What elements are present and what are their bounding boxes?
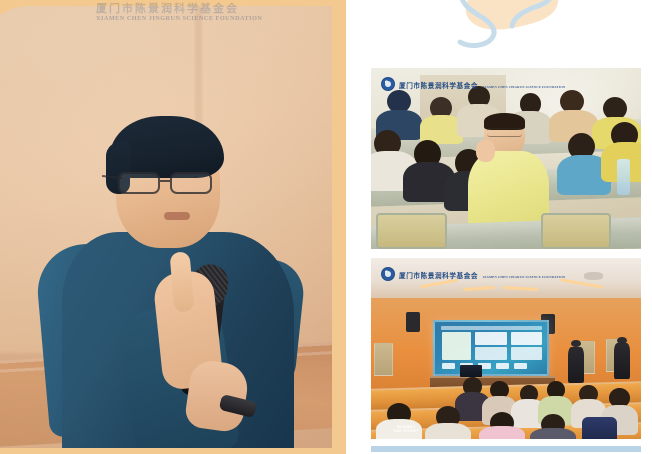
organic-blob-decoration	[440, 0, 590, 52]
seat-back	[541, 213, 611, 249]
hall-assistant-person	[614, 343, 630, 379]
photo-watermark: 厦门市陈景润科学基金会 XIAMEN CHEN JINGRUN SCIENCE …	[381, 76, 565, 92]
photo-lecture-hall[interactable]: PAJAMAS OUR STREET 厦门市陈景润科学基金会 XIAMEN CH…	[371, 258, 641, 439]
backpack-icon	[582, 417, 617, 439]
slide-block	[496, 363, 509, 369]
slide-block	[475, 332, 506, 345]
hero-photo-image	[0, 6, 332, 448]
slide-block	[442, 332, 471, 359]
focus-subject-glasses	[487, 128, 522, 137]
speaker-figure	[0, 6, 332, 448]
wall-speaker	[406, 312, 420, 332]
hall-door	[374, 343, 393, 376]
glasses-left-lens	[118, 172, 160, 194]
presentation-screen	[433, 320, 549, 376]
hero-watermark: 厦门市陈景润科学基金会 XIAMEN CHEN JINGRUN SCIENCE …	[96, 4, 296, 22]
watermark-en: XIAMEN CHEN JINGRUN SCIENCE FOUNDATION	[483, 85, 566, 89]
slide-block	[514, 363, 527, 369]
slide-block	[475, 347, 506, 360]
right-photo-column: 厦门市陈景润科学基金会 XIAMEN CHEN JINGRUN SCIENCE …	[371, 68, 641, 439]
watermark-cn: 厦门市陈景润科学基金会	[399, 83, 478, 90]
glasses-icon	[118, 172, 224, 194]
slide-block	[511, 347, 541, 360]
speaker-mouth	[164, 212, 190, 220]
tee-print-text: PAJAMAS OUR STREET	[387, 425, 425, 433]
glasses-bridge	[160, 180, 170, 182]
student-torso	[425, 423, 471, 439]
hall-speaker-person	[568, 347, 584, 383]
collage-canvas: 厦门市陈景润科学基金会 XIAMEN CHEN JINGRUN SCIENCE …	[0, 0, 652, 454]
ceiling-vent	[584, 272, 603, 279]
hero-photo-frame	[0, 6, 332, 448]
foundation-logo-icon	[381, 267, 395, 281]
seat-back	[376, 213, 446, 249]
laptop-icon	[460, 365, 482, 378]
hero-watermark-cn: 厦门市陈景润科学基金会	[96, 4, 296, 16]
photo-watermark: 厦门市陈景润科学基金会 XIAMEN CHEN JINGRUN SCIENCE …	[381, 266, 565, 282]
glasses-right-lens	[170, 172, 212, 194]
slide-block	[442, 363, 455, 369]
foundation-logo-icon	[381, 77, 395, 91]
photo-audience[interactable]: 厦门市陈景润科学基金会 XIAMEN CHEN JINGRUN SCIENCE …	[371, 68, 641, 249]
student-torso	[530, 428, 576, 439]
student-torso	[479, 426, 525, 439]
focus-subject-hand	[476, 140, 495, 162]
hero-watermark-en: XIAMEN CHEN JINGRUN SCIENCE FOUNDATION	[96, 16, 296, 23]
hall-speaker-head	[571, 340, 581, 347]
watermark-en: XIAMEN CHEN JINGRUN SCIENCE FOUNDATION	[483, 275, 566, 279]
slide-block	[441, 326, 542, 330]
bottom-divider-bar	[371, 446, 641, 452]
watermark-cn: 厦门市陈景润科学基金会	[399, 273, 478, 280]
watermark-text: 厦门市陈景润科学基金会 XIAMEN CHEN JINGRUN SCIENCE …	[399, 76, 565, 92]
watermark-text: 厦门市陈景润科学基金会 XIAMEN CHEN JINGRUN SCIENCE …	[399, 266, 565, 282]
slide-block	[511, 332, 541, 345]
hero-photo-card[interactable]	[0, 0, 346, 454]
water-bottle	[617, 159, 631, 195]
hall-assistant-head	[617, 337, 627, 344]
